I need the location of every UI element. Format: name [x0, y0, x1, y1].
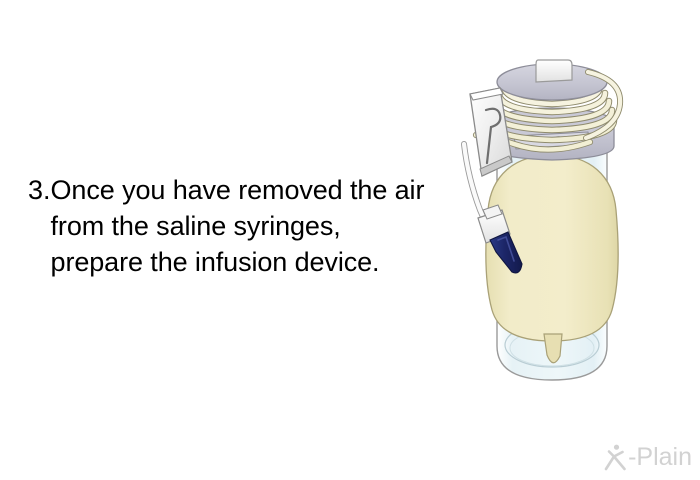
cap-tab — [536, 60, 572, 82]
slide-canvas: 3. Once you have removed the air from th… — [0, 0, 700, 480]
step-number: 3. — [28, 172, 51, 208]
instruction-text: Once you have removed the air from the s… — [51, 172, 438, 280]
infusion-device-svg — [440, 58, 665, 388]
infusion-device-illustration — [440, 58, 665, 388]
instruction-block: 3. Once you have removed the air from th… — [28, 172, 438, 280]
xplain-figure-icon — [603, 443, 629, 471]
xplain-logo-text: -Plain — [628, 443, 692, 471]
instruction-row: 3. Once you have removed the air from th… — [28, 172, 438, 280]
xplain-logo: -Plain — [603, 440, 692, 474]
